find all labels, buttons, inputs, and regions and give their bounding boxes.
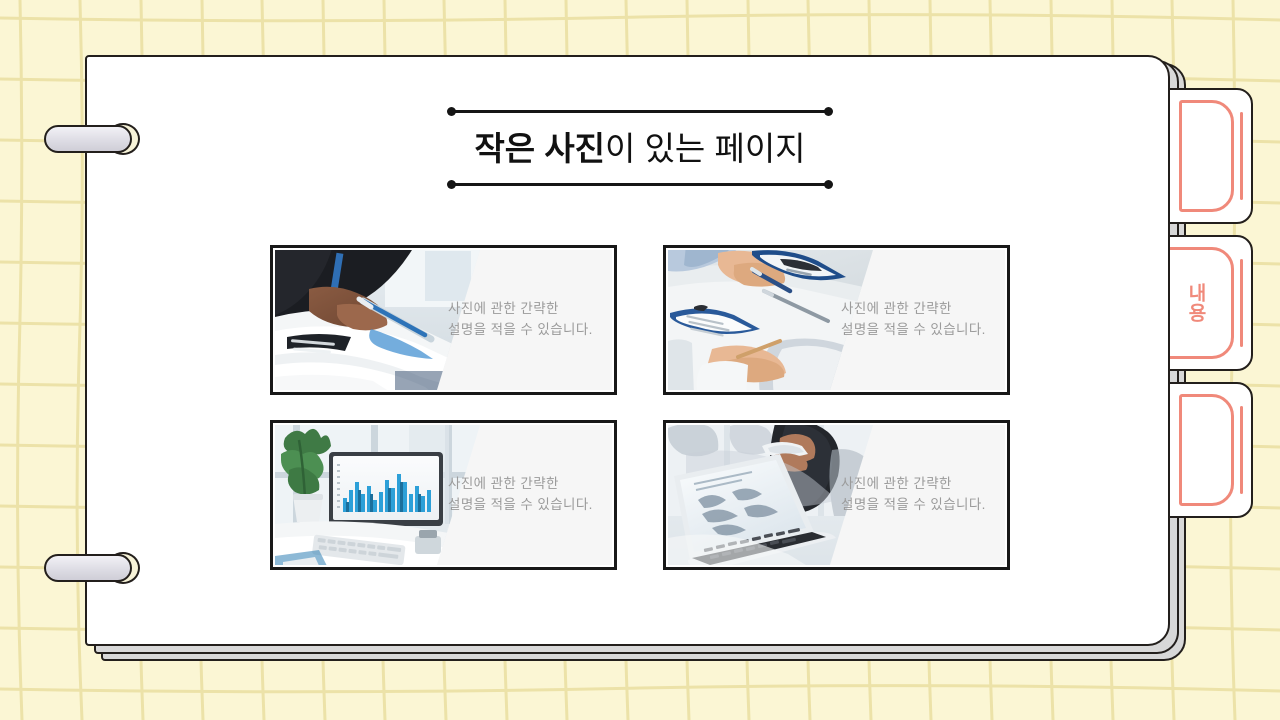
photo-card-caption: 사진에 관한 간략한 설명을 적을 수 있습니다. [440, 425, 612, 565]
page-title: 작은 사진이 있는 페이지 [448, 113, 832, 183]
tab-accent-line-icon [1240, 259, 1243, 347]
side-tab-top-label [1170, 90, 1237, 222]
photo-card-caption-text: 사진에 관한 간략한 설명을 적을 수 있습니다. [440, 474, 600, 516]
title-rule-top [448, 110, 832, 113]
side-tab-bottom-label [1170, 384, 1237, 516]
photo-card-caption-text: 사진에 관한 간략한 설명을 적을 수 있습니다. [440, 299, 600, 341]
binder-ring-bottom [44, 554, 140, 582]
photo-card[interactable]: 사진에 관한 간략한 설명을 적을 수 있습니다. [270, 420, 617, 570]
photo-card-caption-text: 사진에 관한 간략한 설명을 적을 수 있습니다. [833, 299, 993, 341]
slide-canvas: 내용 작은 사진이 있는 페이지 [0, 0, 1280, 720]
page-title-strong: 작은 사진 [474, 130, 605, 167]
photo-card[interactable]: 사진에 관한 간략한 설명을 적을 수 있습니다. [663, 245, 1010, 395]
side-tab-bottom[interactable] [1168, 382, 1253, 518]
photo-card[interactable]: 사진에 관한 간략한 설명을 적을 수 있습니다. [270, 245, 617, 395]
page-title-block: 작은 사진이 있는 페이지 [448, 110, 832, 186]
photo-card-inner: 사진에 관한 간략한 설명을 적을 수 있습니다. [275, 425, 612, 565]
binder-ring-bar-icon [44, 554, 132, 582]
photo-card-inner: 사진에 관한 간략한 설명을 적을 수 있습니다. [275, 250, 612, 390]
photo-card[interactable]: 사진에 관한 간략한 설명을 적을 수 있습니다. [663, 420, 1010, 570]
photo-card-inner: 사진에 관한 간략한 설명을 적을 수 있습니다. [668, 250, 1005, 390]
photo-card-caption: 사진에 관한 간략한 설명을 적을 수 있습니다. [440, 250, 612, 390]
binder-ring-bar-icon [44, 125, 132, 153]
tab-accent-line-icon [1240, 406, 1243, 494]
title-rule-bottom [448, 183, 832, 186]
photo-card-caption: 사진에 관한 간략한 설명을 적을 수 있습니다. [833, 425, 1005, 565]
page-title-rest: 이 있는 페이지 [605, 130, 806, 167]
side-tab-top[interactable] [1168, 88, 1253, 224]
binder-ring-top [44, 125, 140, 153]
photo-card-inner: 사진에 관한 간략한 설명을 적을 수 있습니다. [668, 425, 1005, 565]
photo-card-caption-text: 사진에 관한 간략한 설명을 적을 수 있습니다. [833, 474, 993, 516]
tab-accent-line-icon [1240, 112, 1243, 200]
photo-card-caption: 사진에 관한 간략한 설명을 적을 수 있습니다. [833, 250, 1005, 390]
